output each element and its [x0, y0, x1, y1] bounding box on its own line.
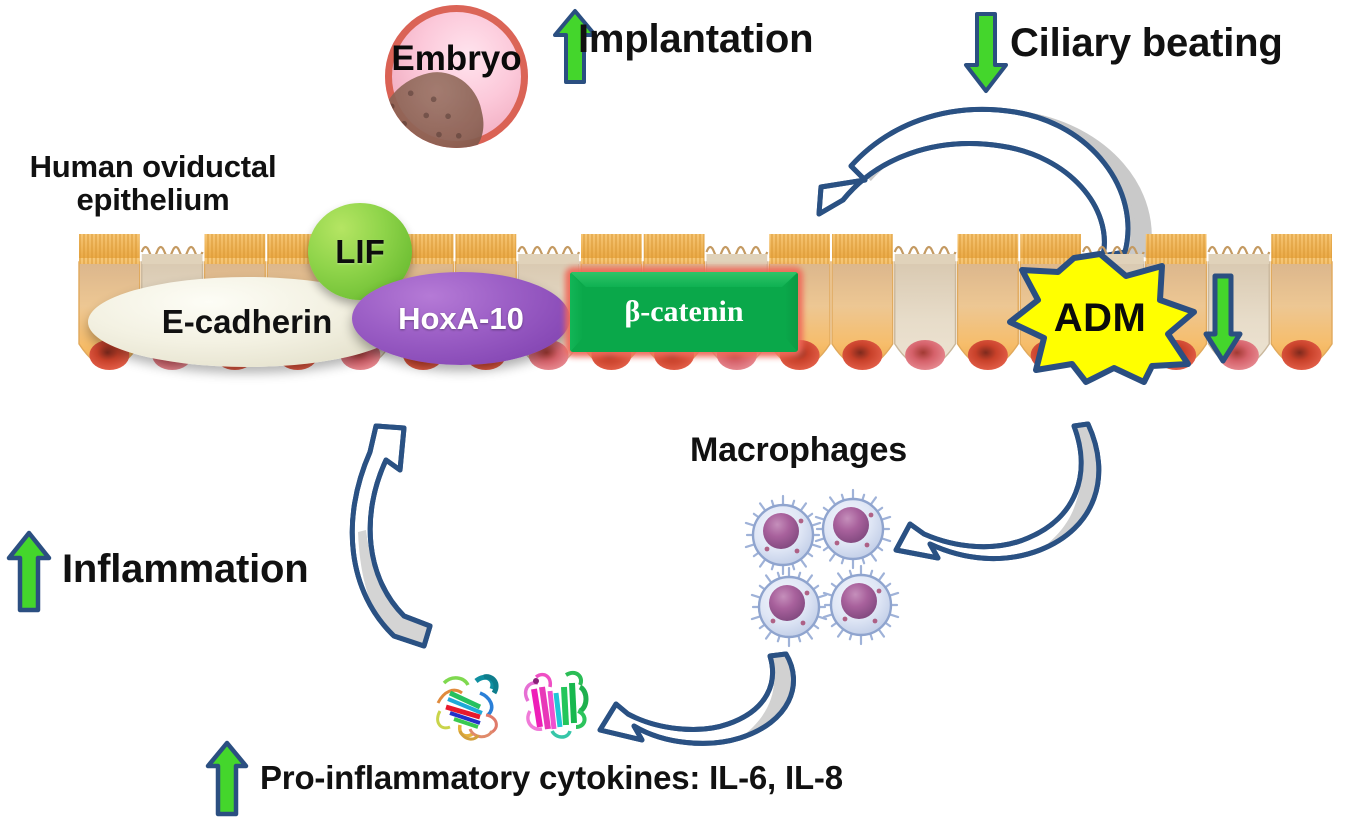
cilia-tuft [832, 234, 893, 264]
bevel-top [570, 272, 798, 287]
macrophage-cell [824, 566, 898, 644]
epithelial-cell-ciliated [1271, 234, 1332, 370]
macrophage-cells [745, 495, 920, 650]
epithelial-cell-ciliated [832, 234, 893, 370]
cilia-tuft [581, 234, 642, 264]
label-pro-inflammatory-cytokines: Pro-inflammatory cytokines: IL-6, IL-8 [260, 760, 843, 796]
macrophages-to-cytokines-arrow [590, 650, 810, 760]
embryo-illustration: Embryo [385, 5, 528, 148]
macrophage-cell [746, 496, 820, 574]
macrophage-cell [752, 568, 826, 646]
label-implantation: Implantation [578, 18, 813, 61]
label-inflammation: Inflammation [62, 548, 309, 591]
cilia-tuft [1271, 234, 1332, 264]
inflammation-to-epithelium-arrow [338, 412, 558, 662]
cell-nucleus [1282, 340, 1322, 370]
label-ciliary-beating: Ciliary beating [1010, 22, 1283, 65]
cilia-tuft [769, 234, 830, 264]
adm-effect-down-arrow-icon [1203, 272, 1243, 364]
hoxa-10-shape [352, 272, 570, 365]
molecule-adm: ADM [1002, 252, 1198, 384]
bevel-bottom [570, 337, 798, 352]
epithelial-cell-secretory [895, 247, 956, 370]
molecule-hoxa-10: HoxA-10 [352, 272, 570, 365]
diagram-canvas: Embryo Implantation Ciliary beating Huma… [0, 0, 1350, 822]
bevel-right [785, 272, 798, 352]
zona-pellucida-ring [385, 5, 528, 148]
label-macrophages: Macrophages [690, 432, 907, 469]
cell-nucleus [842, 340, 882, 370]
ciliary-beating-down-arrow-icon [963, 10, 1009, 94]
macrophage-nucleus [769, 585, 805, 621]
molecule-beta-catenin: β-catenin [570, 272, 798, 352]
label-human-oviductal-epithelium: Human oviductal epithelium [8, 150, 298, 217]
cytokines-up-arrow-icon [205, 740, 249, 818]
inflammation-up-arrow-icon [6, 530, 52, 614]
macrophage-nucleus [841, 583, 877, 619]
cilia-tuft [79, 234, 140, 264]
cilia-tuft [205, 234, 266, 264]
cilia-tuft [456, 234, 517, 264]
macrophage-cell [816, 490, 890, 568]
macrophage-nucleus [833, 507, 869, 543]
cytokine-protein-ribbons [430, 663, 610, 743]
il8-ribbon [526, 673, 586, 737]
beta-catenin-shape [570, 272, 798, 352]
macrophage-nucleus [763, 513, 799, 549]
bevel-left [570, 272, 583, 352]
cilia-tuft [644, 234, 705, 264]
cell-nucleus [905, 340, 945, 370]
il6-ribbon [438, 677, 497, 739]
